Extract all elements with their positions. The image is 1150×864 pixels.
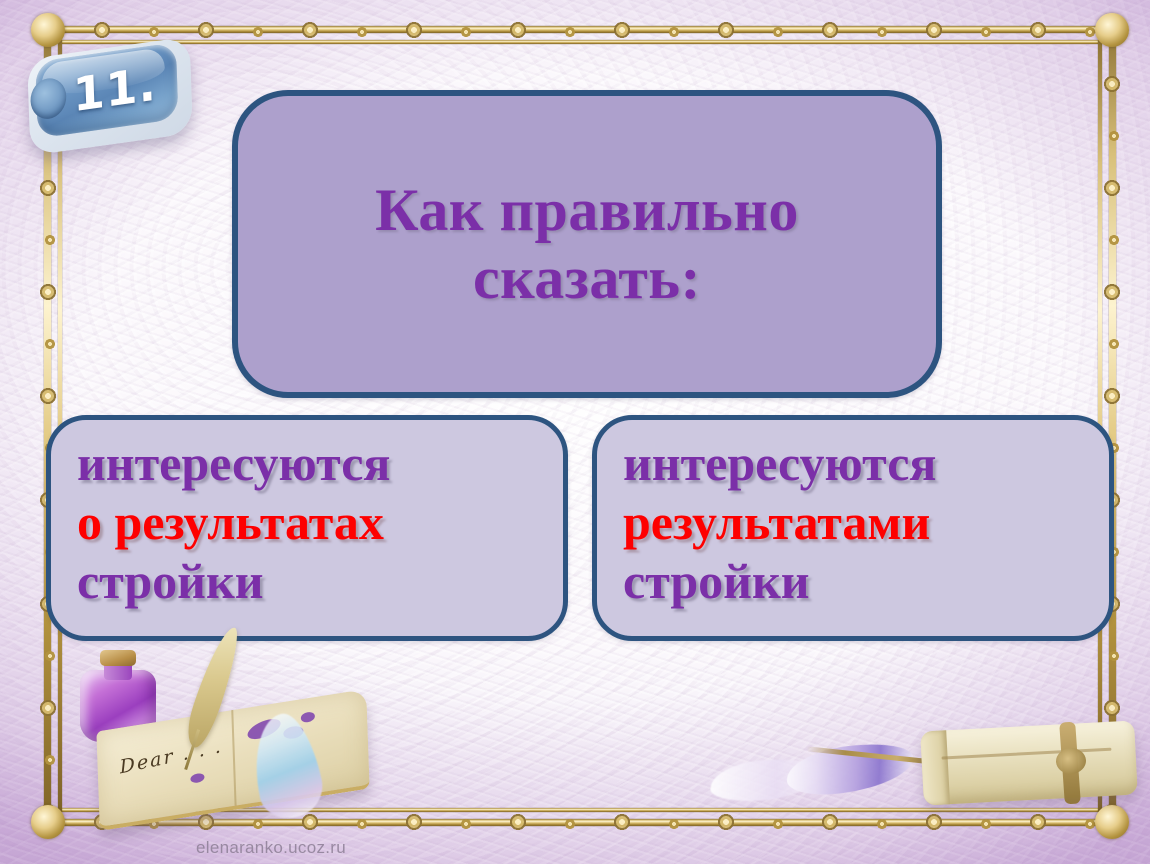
frame-knot-pattern-top bbox=[44, 17, 1116, 43]
purple-feather-icon bbox=[784, 738, 917, 799]
badge-number-label: 11. bbox=[27, 36, 193, 155]
frame-rail-top-inner bbox=[58, 40, 1102, 44]
question-line-1: Как правильно bbox=[375, 177, 799, 243]
site-watermark: elenaranko.ucoz.ru bbox=[196, 838, 346, 858]
question-text: Как правильно сказать: bbox=[349, 176, 825, 313]
parchment-seam bbox=[942, 748, 1112, 760]
frame-rail-top bbox=[44, 26, 1116, 33]
answer-option-left[interactable]: интересуются о результатах стройки bbox=[46, 415, 568, 641]
parchment-edge bbox=[920, 730, 950, 805]
quill-and-letter-decoration: Dear . . . bbox=[58, 620, 418, 820]
answer-right-line-2: результатами bbox=[623, 493, 1089, 552]
scroll-decoration bbox=[730, 702, 1150, 822]
slide-canvas: 11. Как правильно сказать: интересуются … bbox=[0, 0, 1150, 864]
ink-bottle-cork bbox=[100, 650, 136, 666]
frame-corner-top-right bbox=[1095, 13, 1129, 47]
ink-blot bbox=[301, 711, 315, 723]
slide-number-badge: 11. bbox=[27, 36, 193, 155]
answer-option-right[interactable]: интересуются результатами стройки bbox=[592, 415, 1114, 641]
answer-right-line-1: интересуются bbox=[623, 434, 1089, 493]
letter-fold bbox=[231, 710, 236, 806]
answer-options-row: интересуются о результатах стройки интер… bbox=[46, 415, 1114, 641]
question-card: Как правильно сказать: bbox=[232, 90, 942, 398]
rolled-parchment-icon bbox=[920, 720, 1138, 805]
answer-left-line-3: стройки bbox=[77, 552, 543, 611]
answer-left-line-1: интересуются bbox=[77, 434, 543, 493]
frame-corner-top-left bbox=[31, 13, 65, 47]
answer-left-line-2: о результатах bbox=[77, 493, 543, 552]
question-line-2: сказать: bbox=[375, 244, 799, 312]
letter-greeting-text: Dear . . . bbox=[119, 735, 224, 778]
ink-blot bbox=[190, 773, 204, 784]
answer-right-line-3: стройки bbox=[623, 552, 1089, 611]
